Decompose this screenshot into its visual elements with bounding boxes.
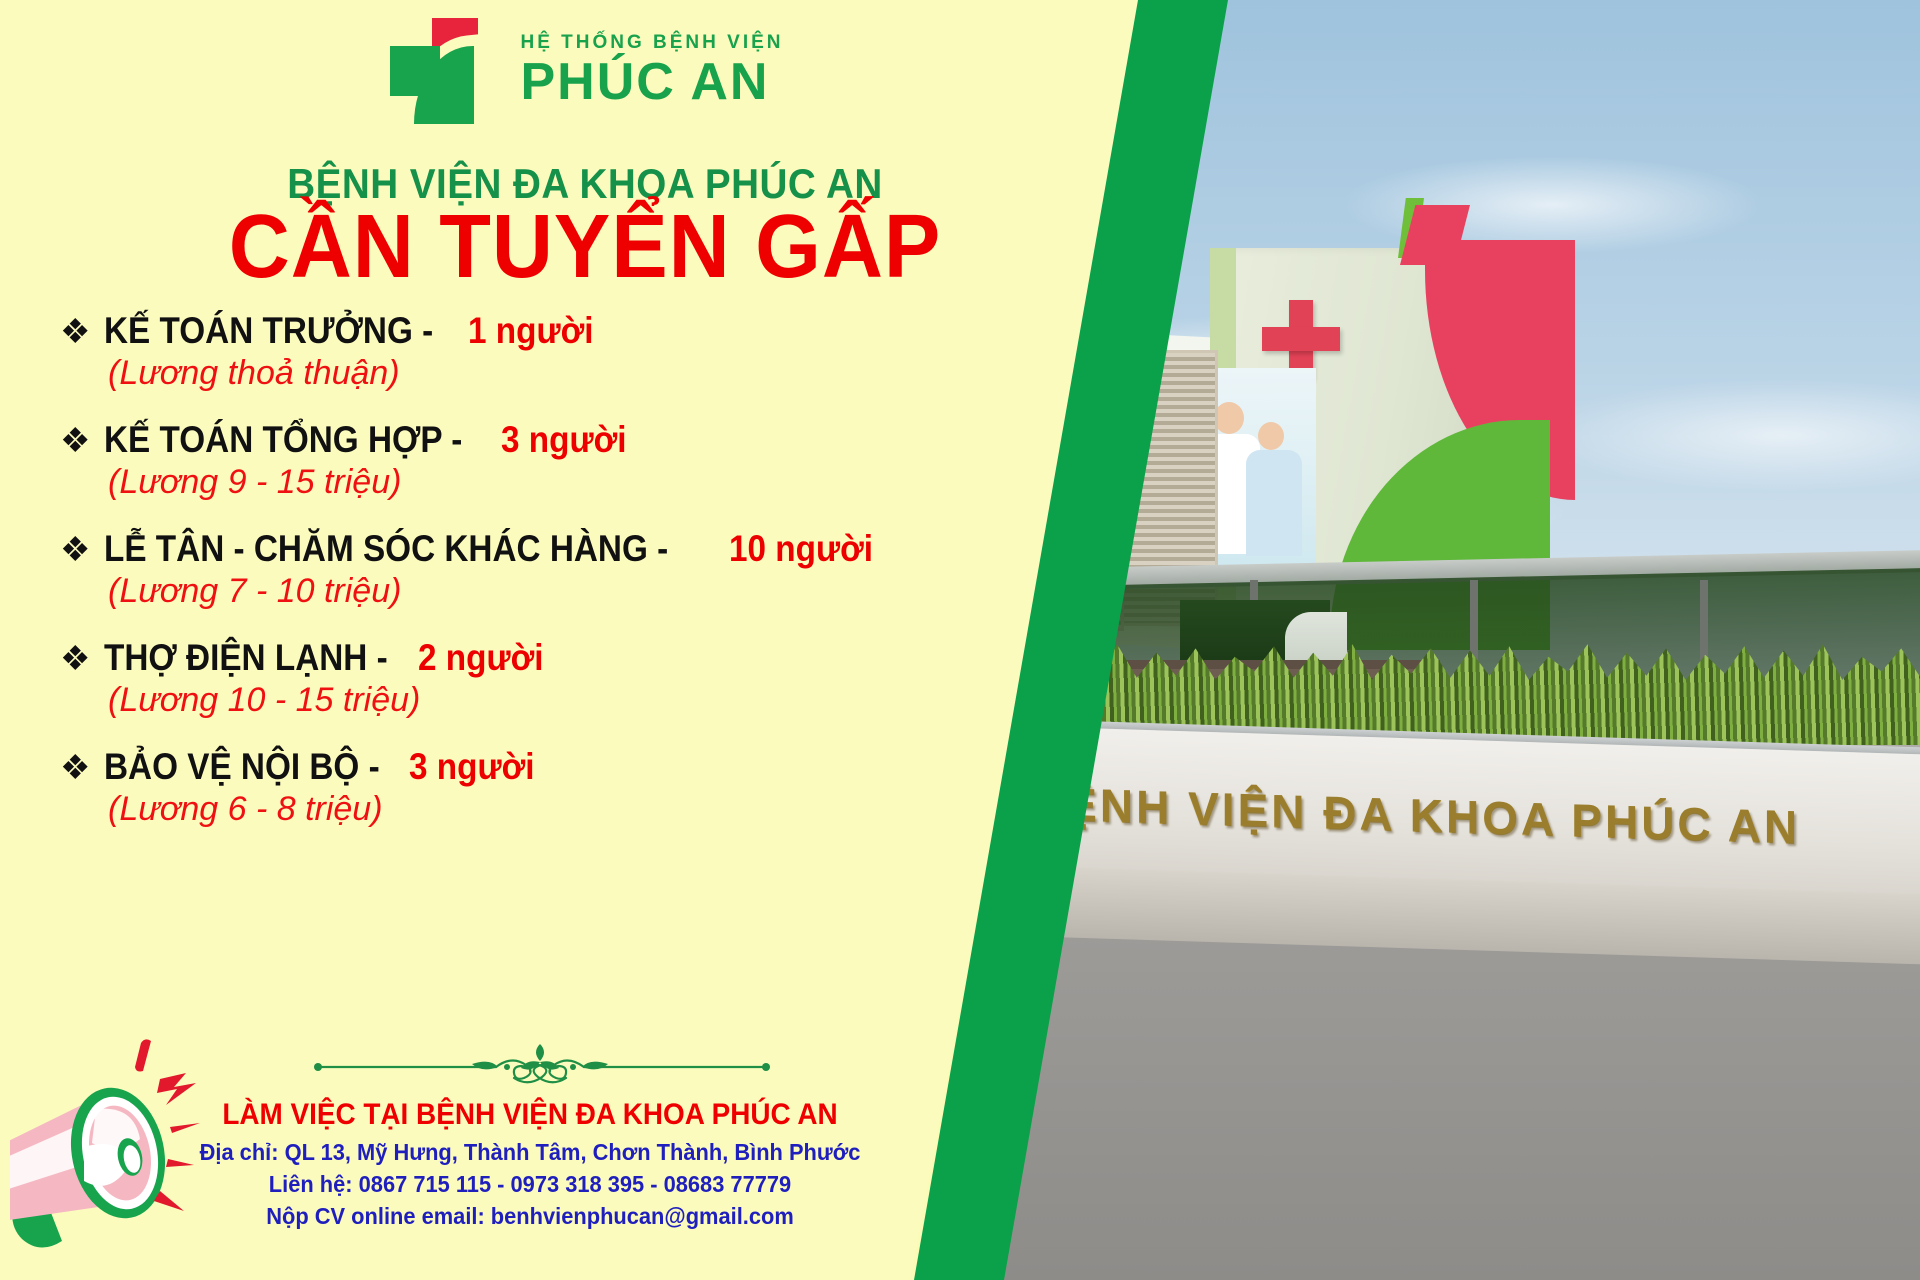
job-title: KẾ TOÁN TỔNG HỢP - (104, 419, 462, 461)
job-list: ❖ KẾ TOÁN TRƯỞNG - 1 người (Lương thoả t… (60, 310, 1110, 855)
job-salary: (Lương 6 - 8 triệu) (108, 790, 1110, 829)
job-salary: (Lương 9 - 15 triệu) (108, 463, 1110, 502)
brand-logo-text: HỆ THỐNG BỆNH VIỆN PHÚC AN (520, 33, 783, 108)
job-headcount: 1 người (468, 310, 593, 352)
page-title: CẦN TUYỂN GẤP (35, 196, 1135, 299)
job-headcount: 3 người (409, 746, 534, 788)
job-headcount: 3 người (501, 419, 626, 461)
logo-name: PHÚC AN (520, 56, 783, 108)
job-title: LỄ TÂN - CHĂM SÓC KHÁC HÀNG - (104, 528, 668, 570)
brand-logo: HỆ THỐNG BỆNH VIỆN PHÚC AN (0, 18, 1170, 123)
list-item: ❖ KẾ TOÁN TỔNG HỢP - 3 người (Lương 9 - … (60, 419, 1110, 502)
job-headcount: 2 người (418, 637, 543, 679)
diamond-bullet-icon: ❖ (60, 315, 90, 349)
list-item: ❖ THỢ ĐIỆN LẠNH - 2 người (Lương 10 - 15… (60, 637, 1110, 720)
floral-divider-icon (300, 1040, 780, 1092)
job-title: KẾ TOÁN TRƯỞNG - (104, 310, 433, 352)
diamond-bullet-icon: ❖ (60, 533, 90, 567)
list-item: ❖ BẢO VỆ NỘI BỘ - 3 người (Lương 6 - 8 t… (60, 746, 1110, 829)
footer-phone: Liên hệ: 0867 715 115 - 0973 318 395 - 0… (188, 1171, 872, 1198)
job-salary: (Lương thoả thuận) (108, 354, 1110, 393)
job-headcount: 10 người (729, 528, 873, 570)
diamond-bullet-icon: ❖ (60, 751, 90, 785)
contact-footer: LÀM VIỆC TẠI BỆNH VIỆN ĐA KHOA PHÚC AN Đ… (170, 1098, 890, 1235)
job-title: BẢO VỆ NỘI BỘ - (104, 746, 380, 788)
logo-tagline: HỆ THỐNG BỆNH VIỆN (520, 33, 783, 52)
list-item: ❖ KẾ TOÁN TRƯỞNG - 1 người (Lương thoả t… (60, 310, 1110, 393)
recruitment-poster: PHÚC AN HỆ THỐNG BỆNH VIỆN PHÚC AN (0, 0, 1920, 1280)
list-item: ❖ LỄ TÂN - CHĂM SÓC KHÁC HÀNG - 10 người… (60, 528, 1110, 611)
job-salary: (Lương 10 - 15 triệu) (108, 681, 1110, 720)
footer-address: Địa chỉ: QL 13, Mỹ Hưng, Thành Tâm, Chơn… (188, 1139, 872, 1166)
job-title: THỢ ĐIỆN LẠNH - (104, 637, 388, 679)
cross-swoosh-logo-icon (386, 18, 506, 123)
diamond-bullet-icon: ❖ (60, 642, 90, 676)
diamond-bullet-icon: ❖ (60, 424, 90, 458)
red-cross-icon (1262, 300, 1340, 378)
footer-work-at: LÀM VIỆC TẠI BỆNH VIỆN ĐA KHOA PHÚC AN (195, 1098, 865, 1132)
footer-email: Nộp CV online email: benhvienphucan@gmai… (188, 1203, 872, 1230)
job-salary: (Lương 7 - 10 triệu) (108, 572, 1110, 611)
